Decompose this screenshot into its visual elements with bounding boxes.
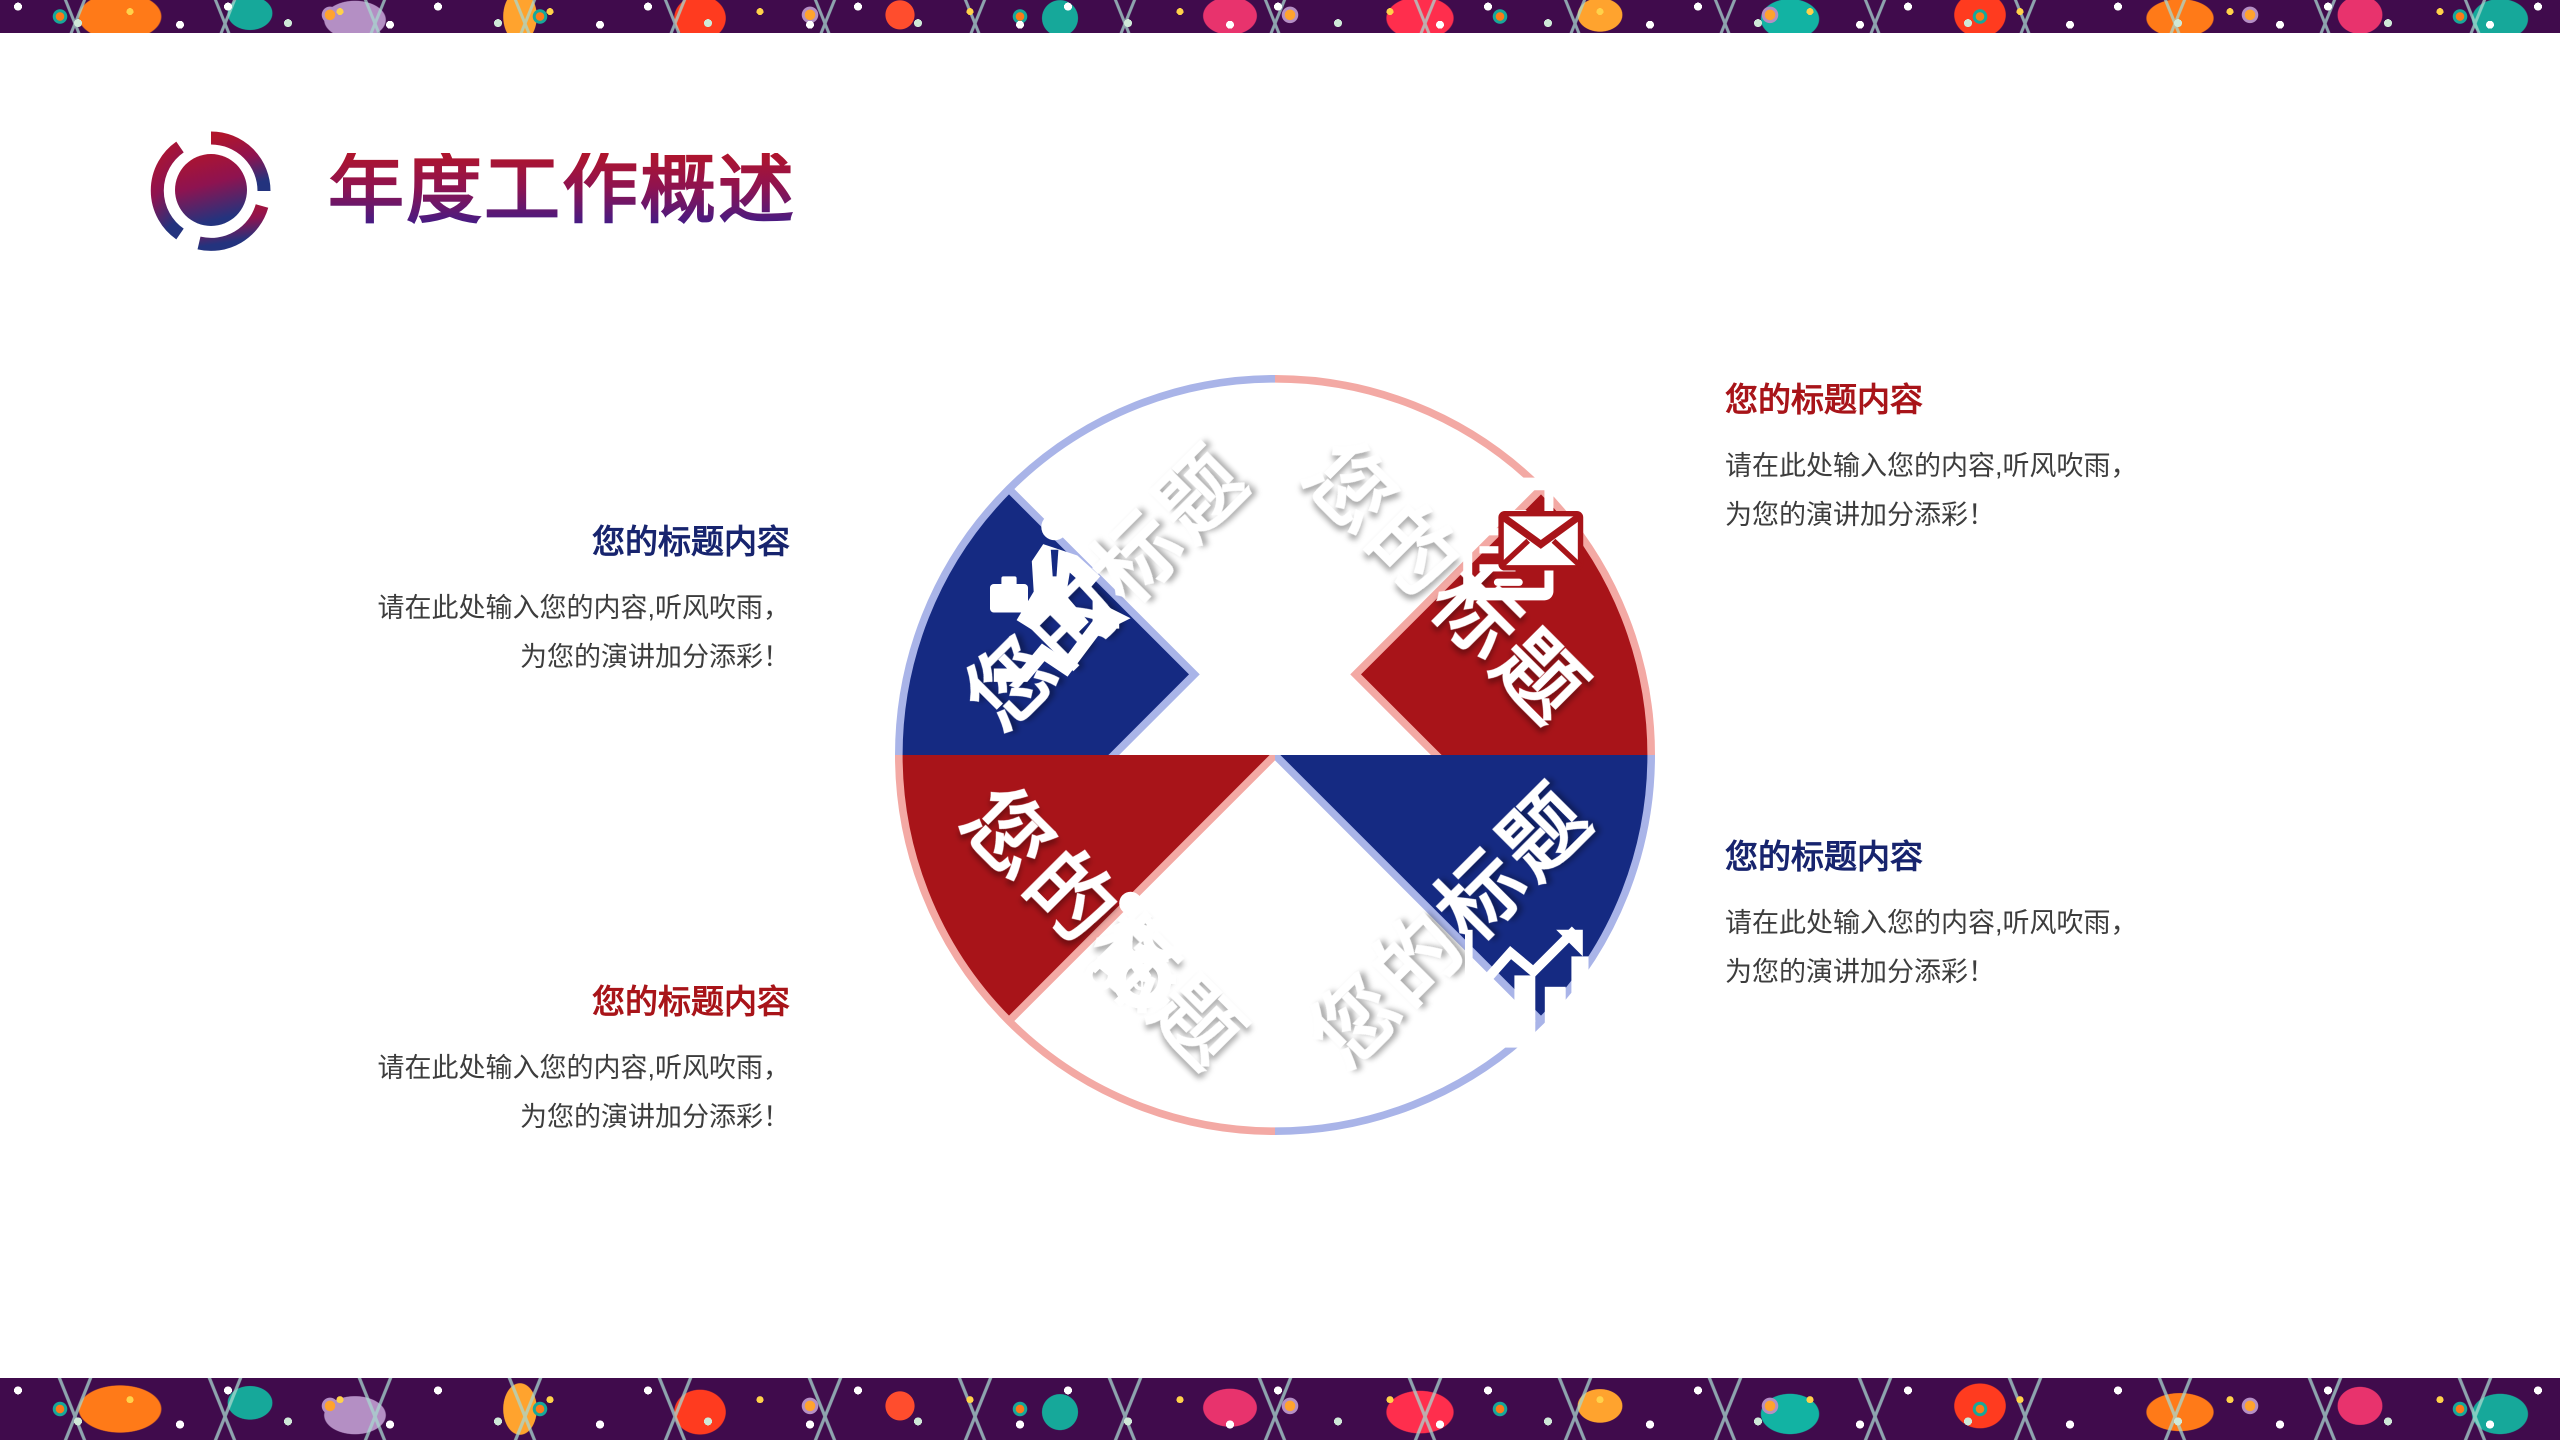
svg-text:$: $	[1133, 962, 1151, 998]
block-body-top-right-line1: 请在此处输入您的内容,听风吹雨，	[1725, 442, 2325, 491]
bottom-decorative-border	[0, 1378, 2560, 1440]
top-decorative-border	[0, 0, 2560, 33]
block-body-bottom-right-line1: 请在此处输入您的内容,听风吹雨，	[1725, 899, 2325, 948]
block-body-bottom-left-line1: 请在此处输入您的内容,听风吹雨，	[190, 1044, 790, 1093]
block-body-bottom-right-line2: 为您的演讲加分添彩！	[1725, 948, 2325, 997]
pinwheel-diagram: 您的标题 您的标题	[895, 375, 1655, 1135]
border-dot-pattern	[0, 1378, 2560, 1440]
block-heading-bottom-right: 您的标题内容	[1725, 840, 2325, 873]
border-dot-pattern	[0, 0, 2560, 33]
block-heading-top-right: 您的标题内容	[1725, 383, 2325, 416]
block-heading-bottom-left: 您的标题内容	[190, 985, 790, 1018]
circular-ring-logo-icon	[150, 130, 272, 252]
text-block-bottom-right: 您的标题内容 请在此处输入您的内容,听风吹雨， 为您的演讲加分添彩！	[1725, 840, 2325, 997]
slide-header: 年度工作概述	[150, 130, 796, 252]
block-body-top-left-line2: 为您的演讲加分添彩！	[190, 633, 790, 682]
text-block-top-right: 您的标题内容 请在此处输入您的内容,听风吹雨， 为您的演讲加分添彩！	[1725, 383, 2325, 540]
block-body-bottom-left-line2: 为您的演讲加分添彩！	[190, 1093, 790, 1142]
block-body-top-right-line2: 为您的演讲加分添彩！	[1725, 491, 2325, 540]
page-title: 年度工作概述	[328, 153, 796, 229]
block-body-top-left-line1: 请在此处输入您的内容,听风吹雨，	[190, 584, 790, 633]
block-heading-top-left: 您的标题内容	[190, 525, 790, 558]
text-block-bottom-left: 您的标题内容 请在此处输入您的内容,听风吹雨， 为您的演讲加分添彩！	[190, 985, 790, 1142]
text-block-top-left: 您的标题内容 请在此处输入您的内容,听风吹雨， 为您的演讲加分添彩！	[190, 525, 790, 682]
